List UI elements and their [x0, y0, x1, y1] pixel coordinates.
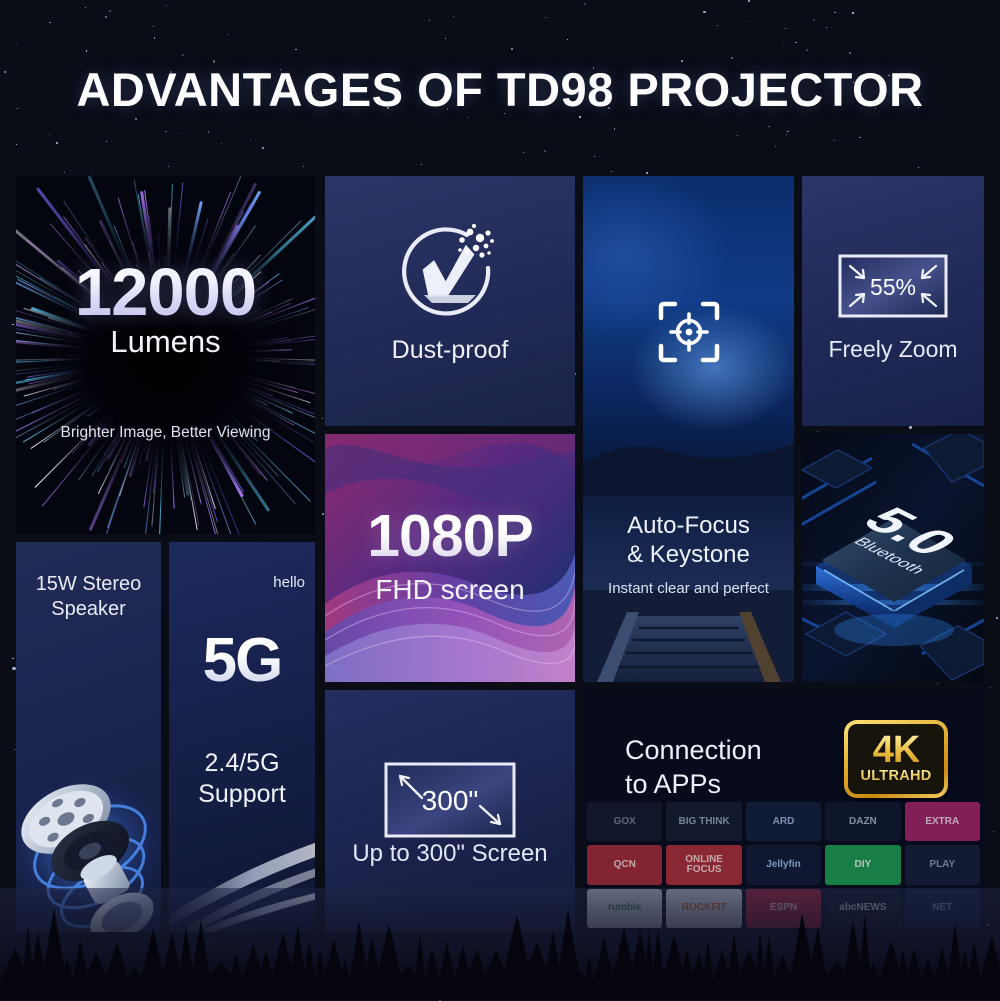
app-logo-cell[interactable]: ARD [746, 802, 821, 841]
autofocus-title: Auto-Focus & Keystone [583, 512, 794, 570]
tile-autofocus: Auto-Focus & Keystone Instant clear and … [583, 176, 794, 682]
tile-dustproof: Dust-proof [325, 176, 575, 426]
bluetooth-chip-icon: 5.0 Bluetooth [802, 434, 984, 682]
wifi-hello-label: hello [273, 574, 305, 591]
autofocus-line2: & Keystone [583, 541, 794, 570]
4k-badge-inner: 4K ULTRAHD [848, 724, 944, 794]
screen-diagonal-icon: 300" [384, 762, 516, 838]
4k-badge-sub: ULTRAHD [860, 769, 931, 785]
screensize-label: Up to 300" Screen [325, 840, 575, 868]
app-logo-cell[interactable]: DAZN [825, 802, 900, 841]
autofocus-line1: Auto-Focus [583, 512, 794, 541]
4k-badge-main: 4K [873, 733, 920, 769]
4k-badge-sub-light: ULTRA [860, 768, 910, 784]
app-logo-cell[interactable]: GOX [587, 802, 662, 841]
4k-ultrahd-badge: 4K ULTRAHD [844, 720, 948, 798]
tile-resolution: 1080P FHD screen [325, 434, 575, 682]
zoom-badge-text: 55% [870, 274, 916, 300]
wifi-logo-wrap: 5G [169, 630, 315, 692]
app-logo-cell[interactable]: ONLINE FOCUS [666, 845, 741, 884]
speaker-line2: Speaker [16, 597, 161, 622]
4k-badge-sub-bold: HD [910, 768, 932, 784]
autofocus-tagline: Instant clear and perfect [583, 580, 794, 597]
app-logo-cell[interactable]: Jellyfin [746, 845, 821, 884]
apps-title: Connection to APPs [625, 734, 762, 802]
apps-line2: to APPs [625, 768, 762, 802]
app-logo-cell[interactable]: EXTRA [905, 802, 980, 841]
tile-wifi: 5G hello 2.4/5G Support [169, 542, 315, 932]
focus-target-icon [655, 298, 723, 366]
resolution-label: FHD screen [325, 574, 575, 606]
tree-silhouette-icon [0, 908, 1000, 1000]
app-logo-cell[interactable]: DIY [825, 845, 900, 884]
lumens-value: 12000 [16, 254, 315, 331]
zoom-label: Freely Zoom [802, 336, 984, 363]
lumens-unit: Lumens [16, 324, 315, 360]
hill-silhouette-icon [583, 426, 794, 496]
dustproof-label: Dust-proof [325, 336, 575, 365]
app-logo-cell[interactable]: BIG THINK [666, 802, 741, 841]
tile-lumens: 12000 Lumens Brighter Image, Better View… [16, 176, 315, 534]
5g-logo-icon: 5G [203, 630, 282, 692]
zoom-inward-arrows-icon: 55% [838, 254, 948, 318]
tile-zoom: 55% Freely Zoom [802, 176, 984, 426]
resolution-value: 1080P [325, 502, 575, 570]
lumens-tagline: Brighter Image, Better Viewing [16, 424, 315, 442]
apps-line1: Connection [625, 734, 762, 768]
app-logo-cell[interactable]: QCN [587, 845, 662, 884]
speaker-line1: 15W Stereo [16, 572, 161, 597]
app-logo-cell[interactable]: PLAY [905, 845, 980, 884]
screensize-badge-text: 300" [422, 785, 479, 816]
dustproof-shield-check-icon [396, 220, 504, 328]
speaker-title: 15W Stereo Speaker [16, 572, 161, 622]
tile-bluetooth: 5.0 Bluetooth [802, 434, 984, 682]
tile-speaker: 15W Stereo Speaker [16, 542, 161, 932]
feature-grid: 12000 Lumens Brighter Image, Better View… [16, 176, 984, 932]
dock-pier-icon [583, 590, 794, 682]
page-title: ADVANTAGES OF TD98 PROJECTOR [0, 62, 1000, 117]
